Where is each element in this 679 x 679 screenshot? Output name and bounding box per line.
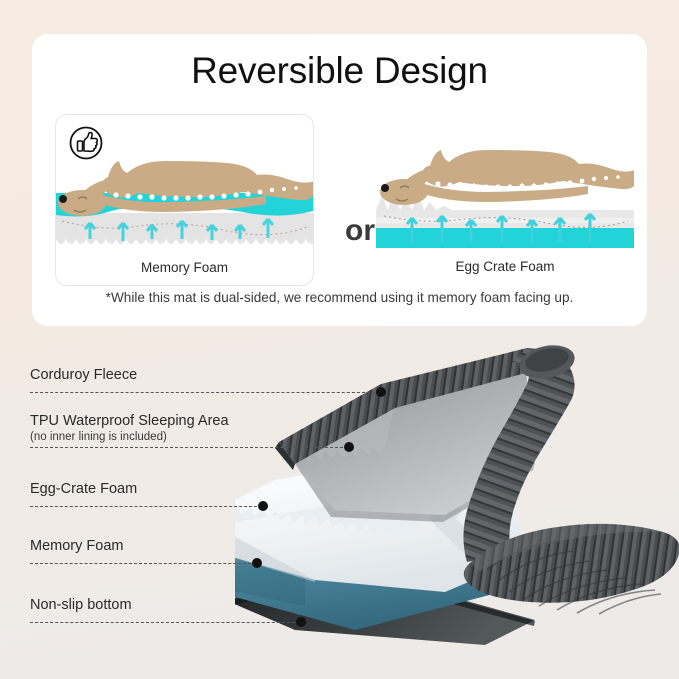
leader-line-memory-foam xyxy=(30,563,256,565)
leader-dot-tpu xyxy=(344,442,354,452)
memory-foam-layer xyxy=(376,226,634,248)
dog-illustration xyxy=(380,150,634,205)
callout-corduroy-fleece: Corduroy Fleece xyxy=(30,366,137,384)
card-footnote: *While this mat is dual-sided, we recomm… xyxy=(32,290,647,305)
leader-dot-corduroy xyxy=(376,387,386,397)
leader-dot-egg-crate xyxy=(258,501,268,511)
panel-memory-foam-side: Memory Foam xyxy=(55,114,314,286)
callout-egg-crate-foam: Egg-Crate Foam xyxy=(30,480,137,498)
panel-caption-egg-crate: Egg Crate Foam xyxy=(376,259,634,274)
thumbs-up-icon xyxy=(68,125,104,161)
infographic-root: Reversible Design xyxy=(0,0,679,679)
reversible-design-card: Reversible Design xyxy=(32,34,647,326)
product-exploded-view xyxy=(235,330,679,660)
dog-nose xyxy=(381,184,389,192)
leader-line-egg-crate xyxy=(30,506,262,508)
egg-crate-illustration xyxy=(376,114,634,254)
leader-line-corduroy xyxy=(30,392,380,394)
panel-egg-crate-side: Egg Crate Foam xyxy=(376,114,634,284)
panel-caption-memory-foam: Memory Foam xyxy=(56,260,313,275)
page-title: Reversible Design xyxy=(32,50,647,92)
callout-non-slip-bottom: Non-slip bottom xyxy=(30,596,132,614)
leader-line-tpu xyxy=(30,447,348,449)
leader-dot-non-slip xyxy=(296,617,306,627)
leader-line-non-slip xyxy=(30,622,300,624)
callout-memory-foam: Memory Foam xyxy=(30,537,123,555)
dog-nose xyxy=(59,195,67,203)
leader-dot-memory-foam xyxy=(252,558,262,568)
callout-tpu: TPU Waterproof Sleeping Area (no inner l… xyxy=(30,412,229,443)
